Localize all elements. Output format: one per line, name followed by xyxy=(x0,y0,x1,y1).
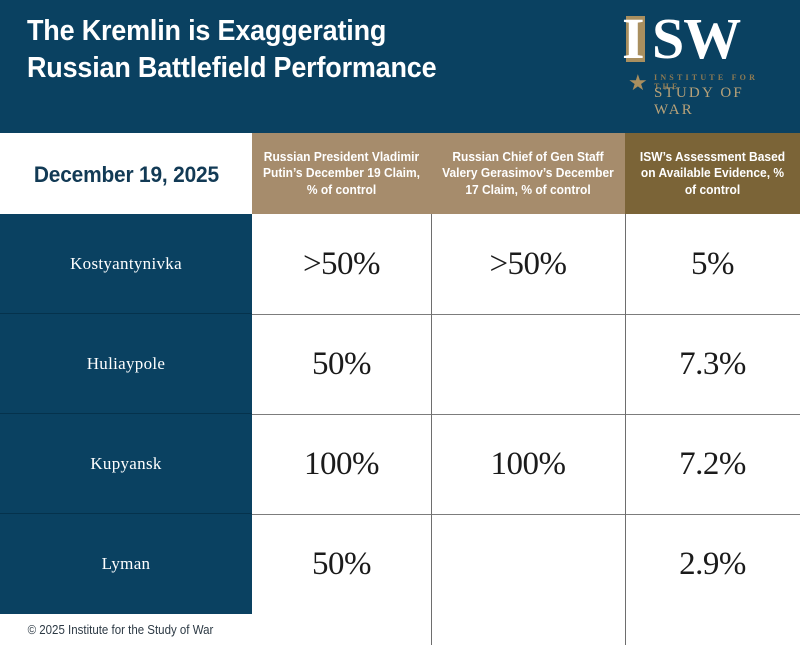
isw-logo: I SW ★ INSTITUTE FOR THE STUDY OF WAR xyxy=(608,8,783,106)
cell-putin-claim: 100% xyxy=(252,414,431,514)
table-row: Lyman 50% 2.9% xyxy=(0,514,800,614)
copyright-text: © 2025 Institute for the Study of War xyxy=(0,623,213,637)
row-label-cell: Kostyantynivka xyxy=(0,214,252,314)
cell-putin-claim: >50% xyxy=(252,214,431,314)
logo-wordmark: I SW xyxy=(608,8,783,70)
date-cell: December 19, 2025 xyxy=(0,137,252,213)
cell-value: 100% xyxy=(491,446,566,483)
cell-gerasimov-claim xyxy=(431,514,625,614)
column-header-gerasimov-claim: Russian Chief of Gen Staff Valery Gerasi… xyxy=(431,133,625,214)
cell-value: 7.3% xyxy=(679,346,746,383)
column-divider xyxy=(431,214,432,645)
column-header-label: Russian President Vladimir Putin’s Decem… xyxy=(261,149,421,199)
header-banner: The Kremlin is Exaggerating Russian Batt… xyxy=(0,0,800,133)
isw-infographic: The Kremlin is Exaggerating Russian Batt… xyxy=(0,0,800,645)
logo-letter-i: I xyxy=(622,10,645,68)
column-divider xyxy=(625,214,626,645)
column-header-putin-claim: Russian President Vladimir Putin’s Decem… xyxy=(252,133,431,214)
row-label-cell: Kupyansk xyxy=(0,414,252,514)
location-name: Kupyansk xyxy=(90,454,161,474)
column-header-label: Russian Chief of Gen Staff Valery Gerasi… xyxy=(441,149,616,199)
cell-isw-assessment: 7.2% xyxy=(625,414,800,514)
location-name: Lyman xyxy=(102,554,151,574)
title-line-1: The Kremlin is Exaggerating xyxy=(27,13,511,50)
cell-value: >50% xyxy=(489,246,566,283)
cell-value: 100% xyxy=(304,446,379,483)
column-header-isw-assessment: ISW’s Assessment Based on Available Evid… xyxy=(625,133,800,214)
location-name: Kostyantynivka xyxy=(70,254,182,274)
cell-value: 5% xyxy=(691,246,734,283)
cell-putin-claim: 50% xyxy=(252,514,431,614)
title-line-2: Russian Battlefield Performance xyxy=(27,50,511,87)
cell-putin-claim: 50% xyxy=(252,314,431,414)
row-label-cell: Huliaypole xyxy=(0,314,252,414)
cell-isw-assessment: 2.9% xyxy=(625,514,800,614)
star-icon: ★ xyxy=(628,72,650,94)
location-name: Huliaypole xyxy=(87,354,166,374)
table-row: Kostyantynivka >50% >50% 5% xyxy=(0,214,800,314)
cell-gerasimov-claim: >50% xyxy=(431,214,625,314)
cell-value: 50% xyxy=(312,546,371,583)
cell-gerasimov-claim xyxy=(431,314,625,414)
date-label: December 19, 2025 xyxy=(33,162,218,188)
cell-value: 50% xyxy=(312,346,371,383)
cell-value: 2.9% xyxy=(679,546,746,583)
row-label-cell: Lyman xyxy=(0,514,252,614)
table-body: Kostyantynivka >50% >50% 5% Huliaypole 5… xyxy=(0,214,800,645)
cell-value: 7.2% xyxy=(679,446,746,483)
cell-value: >50% xyxy=(303,246,380,283)
column-header-label: ISW’s Assessment Based on Available Evid… xyxy=(634,149,790,199)
table-row: Kupyansk 100% 100% 7.2% xyxy=(0,414,800,514)
page-title: The Kremlin is Exaggerating Russian Batt… xyxy=(27,13,547,87)
footer: © 2025 Institute for the Study of War xyxy=(0,614,252,645)
table-header-row: December 19, 2025 Russian President Vlad… xyxy=(0,133,800,214)
logo-letters-sw: SW xyxy=(652,10,740,68)
logo-subtitle-bottom: STUDY OF WAR xyxy=(654,85,783,119)
cell-isw-assessment: 7.3% xyxy=(625,314,800,414)
table-row: Huliaypole 50% 7.3% xyxy=(0,314,800,414)
cell-isw-assessment: 5% xyxy=(625,214,800,314)
cell-gerasimov-claim: 100% xyxy=(431,414,625,514)
